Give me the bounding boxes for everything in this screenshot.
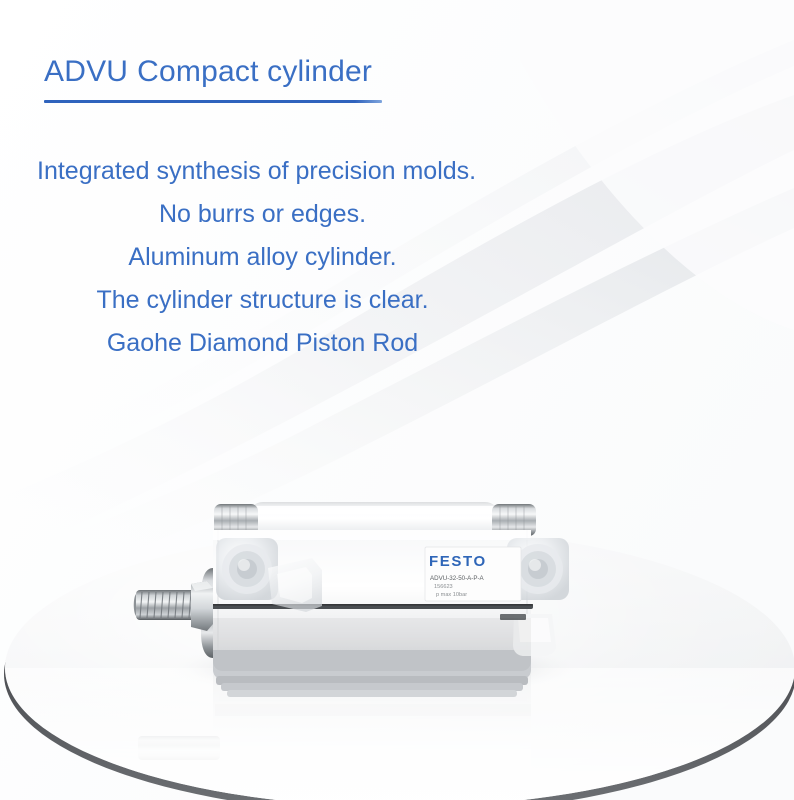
feature-line: Aluminum alloy cylinder.	[35, 236, 490, 279]
feature-list: Integrated synthesis of precision molds.…	[35, 150, 490, 365]
title-underline	[44, 100, 382, 103]
label-model: ADVU-32-50-A-P-A	[430, 575, 485, 582]
product-image: FESTO ADVU-32-50-A-P-A 156623 p max 10ba…	[0, 418, 794, 800]
feature-line: Gaohe Diamond Piston Rod	[35, 322, 490, 365]
page-title: ADVUCompact cylinder	[44, 55, 644, 90]
label-pressure: p max 10bar	[436, 592, 467, 598]
feature-line: Integrated synthesis of precision molds.	[37, 150, 490, 193]
heading-block: ADVUCompact cylinder	[44, 55, 644, 103]
feature-line: The cylinder structure is clear.	[35, 279, 490, 322]
label-part-number: 156623	[434, 584, 453, 590]
product-banner: ADVUCompact cylinder Integrated synthesi…	[0, 0, 794, 800]
product-label: FESTO ADVU-32-50-A-P-A 156623 p max 10ba…	[425, 547, 521, 601]
body-shading	[213, 618, 531, 671]
hex-nut	[191, 581, 213, 631]
festo-logo-text: FESTO	[429, 553, 487, 570]
sensor-groove	[203, 604, 533, 609]
feature-line: No burrs or edges.	[35, 193, 490, 236]
brand-name: ADVU	[44, 55, 128, 88]
product-category: Compact cylinder	[137, 55, 372, 88]
